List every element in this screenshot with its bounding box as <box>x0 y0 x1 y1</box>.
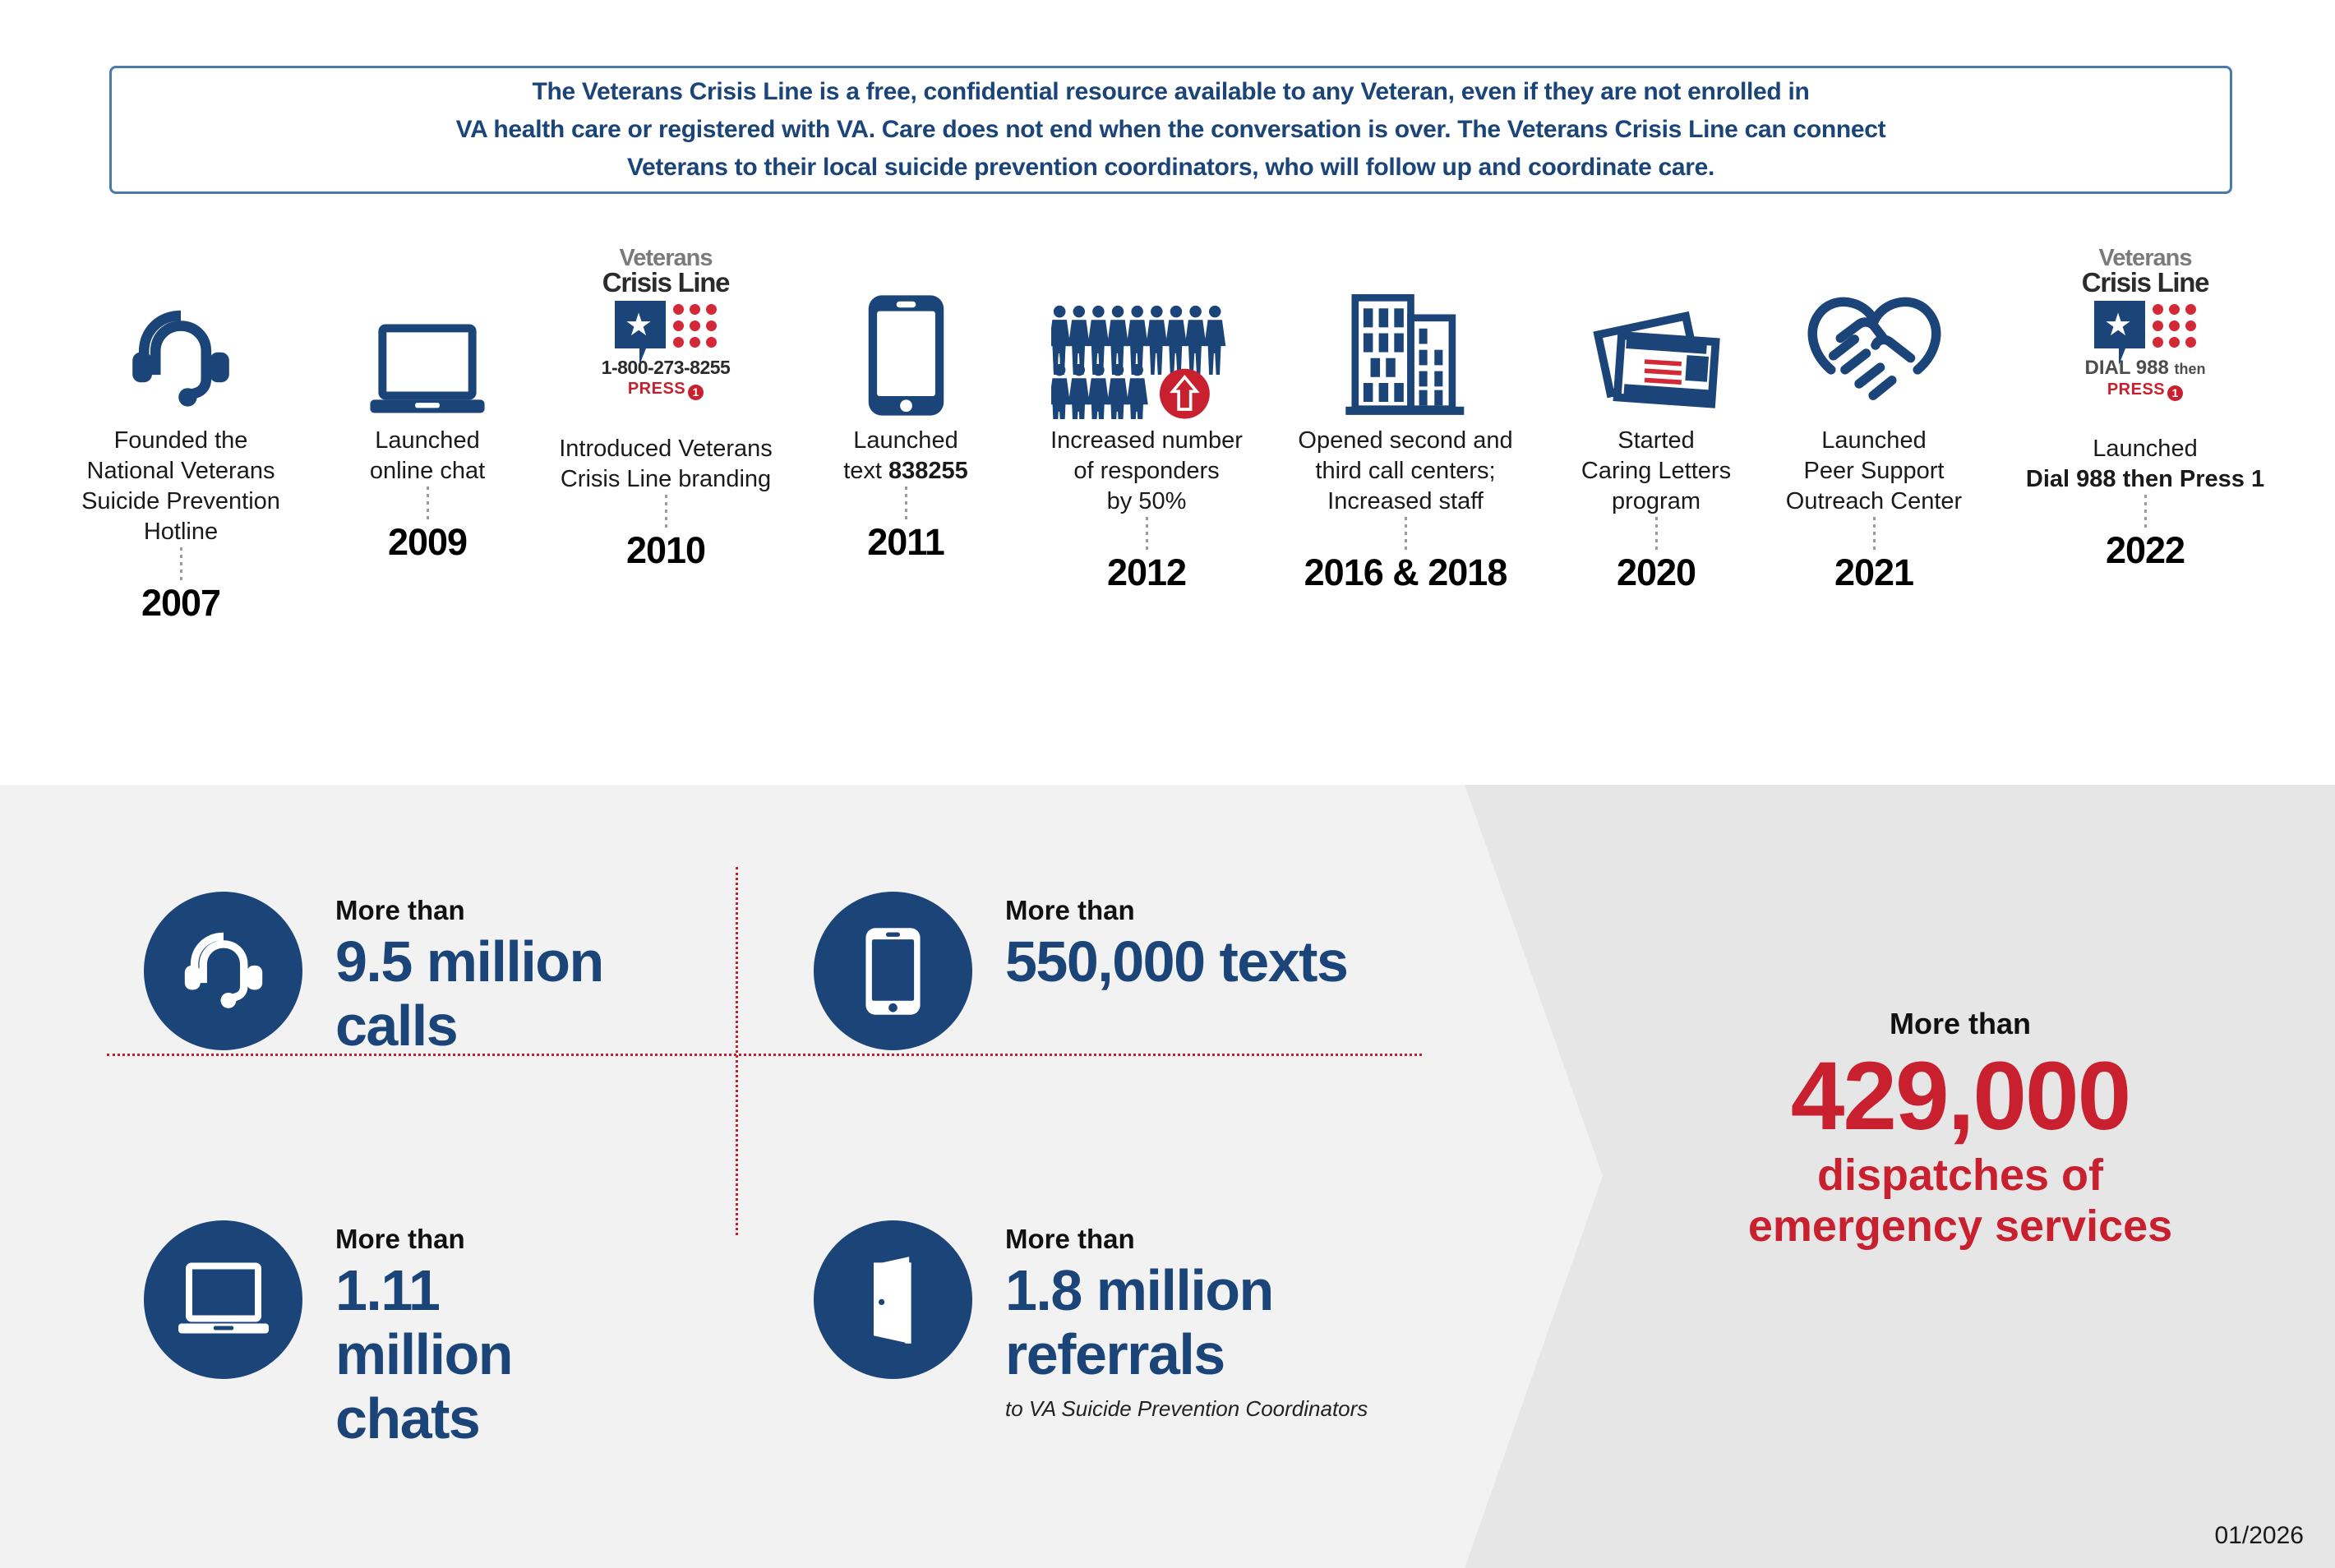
timeline-year-2022: 2022 <box>1989 529 2301 572</box>
keypad-dots-icon <box>2153 301 2196 348</box>
star-icon: ★ <box>2104 310 2132 341</box>
timeline-label-2022: Launched Dial 988 then Press 1 <box>1989 434 2301 495</box>
vcl-dial-label: DIAL 988 then <box>2057 357 2234 380</box>
dispatch-caption: dispatches of emergency services <box>1631 1150 2289 1252</box>
label-line: Peer Support <box>1804 458 1945 484</box>
timeline-item-2011: Launched text 838255 2011 <box>766 247 1045 564</box>
label-line: Outreach Center <box>1786 488 1962 514</box>
timeline-year-2011: 2011 <box>766 521 1045 564</box>
stat-chats: More than 1.11 million chats <box>144 1220 549 1450</box>
speech-bubble-icon: ★ <box>2094 301 2145 348</box>
intro-line-1: The Veterans Crisis Line is a free, conf… <box>532 73 1809 111</box>
connector-dots <box>1405 517 1407 550</box>
label-line: Caring Letters <box>1581 458 1731 484</box>
connector-dots <box>427 487 429 519</box>
intro-line-3: Veterans to their local suicide preventi… <box>627 149 1714 187</box>
label-line: program <box>1612 488 1700 514</box>
connector-dots <box>1146 517 1148 550</box>
connector-dots <box>665 495 667 528</box>
label-line: third call centers; <box>1315 458 1495 484</box>
timeline-label-2021: Launched Peer Support Outreach Center <box>1718 426 2030 517</box>
press-word: PRESS <box>2107 380 2165 399</box>
timeline-item-2009: Launched online chat 2009 <box>288 247 567 564</box>
label-line: by 50% <box>1107 488 1187 514</box>
stat-value: 550,000 texts <box>1005 929 1347 994</box>
vcl-press-label: PRESS1 <box>578 380 754 400</box>
stat-more-than: More than <box>335 1224 549 1255</box>
stat-note: to VA Suicide Prevention Coordinators <box>1005 1396 1368 1422</box>
stat-value: 1.11 million chats <box>335 1258 549 1450</box>
timeline-label-2010: Introduced Veterans Crisis Line branding <box>526 434 805 495</box>
star-icon: ★ <box>625 310 653 341</box>
stat-referrals-text: More than 1.8 million referrals to VA Su… <box>1005 1224 1368 1422</box>
stats-horizontal-divider <box>107 1054 1422 1056</box>
dispatch-callout: More than 429,000 dispatches of emergenc… <box>1631 1007 2289 1252</box>
veterans-crisis-line-988-logo-icon: Veterans Crisis Line ★ DIAL 988 then PRE… <box>1989 247 2301 419</box>
timeline-label-2011: Launched text 838255 <box>766 426 1045 487</box>
stat-value: 9.5 million calls <box>335 929 689 1058</box>
handshake-heart-icon <box>1718 247 2030 419</box>
vcl-press-label: PRESS1 <box>2057 380 2234 401</box>
label-line: Launched <box>2093 436 2197 462</box>
connector-dots <box>180 547 182 580</box>
timeline-item-2007: Founded the National Veterans Suicide Pr… <box>41 247 321 625</box>
label-line-bold: Dial 988 then Press 1 <box>2026 466 2264 492</box>
vcl-phone-number: 1-800-273-8255 <box>578 357 754 379</box>
label-line: Started <box>1617 427 1695 454</box>
text-shortcode: 838255 <box>888 458 968 484</box>
stat-texts: More than 550,000 texts <box>814 892 1347 1050</box>
label-line: Introduced Veterans <box>559 436 773 462</box>
top-section: The Veterans Crisis Line is a free, conf… <box>0 0 2335 785</box>
label-line: Launched <box>375 427 479 454</box>
intro-callout-box: The Veterans Crisis Line is a free, conf… <box>109 66 2232 194</box>
smartphone-icon <box>814 892 972 1050</box>
label-line: Suicide Prevention Hotline <box>81 488 280 545</box>
headset-icon <box>41 247 321 419</box>
vcl-logo-mid-word: Crisis Line <box>2057 269 2234 296</box>
label-line: Increased staff <box>1327 488 1484 514</box>
press-number: 1 <box>688 385 704 400</box>
intro-line-2: VA health care or registered with VA. Ca… <box>456 111 1886 149</box>
connector-dots <box>1873 517 1876 550</box>
stat-more-than: More than <box>1005 1224 1368 1255</box>
stat-calls: More than 9.5 million calls <box>144 892 689 1058</box>
dispatch-caption-line-2: emergency services <box>1748 1201 2172 1251</box>
timeline-year-2009: 2009 <box>288 521 567 564</box>
dispatch-caption-line-1: dispatches of <box>1817 1151 2103 1200</box>
label-line: Increased number <box>1050 427 1243 454</box>
label-line: Founded the <box>114 427 248 454</box>
speech-bubble-icon: ★ <box>615 301 666 348</box>
label-line: Launched <box>853 427 958 454</box>
label-line: Opened second and <box>1298 427 1512 454</box>
headset-icon <box>144 892 302 1050</box>
stat-chats-text: More than 1.11 million chats <box>335 1224 549 1450</box>
timeline-item-2022: Veterans Crisis Line ★ DIAL 988 then PRE… <box>1989 247 2301 572</box>
laptop-icon <box>144 1220 302 1379</box>
press-word: PRESS <box>628 380 685 398</box>
timeline-label-2009: Launched online chat <box>288 426 567 487</box>
connector-dots <box>2144 495 2147 528</box>
label-line: Launched <box>1821 427 1926 454</box>
smartphone-icon <box>766 247 1045 419</box>
label-line-bold: text 838255 <box>843 458 968 484</box>
dispatch-number: 429,000 <box>1631 1046 2289 1146</box>
stats-vertical-divider <box>736 867 738 1235</box>
label-line: of responders <box>1073 458 1219 484</box>
stat-texts-text: More than 550,000 texts <box>1005 895 1347 994</box>
date-stamp: 01/2026 <box>2215 1522 2304 1550</box>
veterans-crisis-line-logo-icon: Veterans Crisis Line ★ 1-800-273-8255 PR… <box>526 247 805 419</box>
stat-value: 1.8 million referrals <box>1005 1258 1359 1386</box>
timeline-year-2007: 2007 <box>41 582 321 625</box>
label-line: online chat <box>370 458 485 484</box>
timeline-label-2007: Founded the National Veterans Suicide Pr… <box>41 426 321 547</box>
keypad-dots-icon <box>673 301 717 348</box>
vcl-logo-mark: ★ <box>578 301 754 348</box>
open-door-icon <box>814 1220 972 1379</box>
vcl-logo-mark: ★ <box>2057 301 2234 348</box>
label-line: National Veterans <box>87 458 275 484</box>
press-number: 1 <box>2167 385 2183 401</box>
timeline-year-2021: 2021 <box>1718 551 2030 594</box>
laptop-icon <box>288 247 567 419</box>
then-word: then <box>2174 361 2205 377</box>
timeline: Founded the National Veterans Suicide Pr… <box>0 247 2335 740</box>
connector-dots <box>1655 517 1658 550</box>
label-line: Crisis Line branding <box>561 466 771 492</box>
vcl-logo-mid-word: Crisis Line <box>578 269 754 296</box>
stat-referrals: More than 1.8 million referrals to VA Su… <box>814 1220 1368 1422</box>
stat-calls-text: More than 9.5 million calls <box>335 895 689 1058</box>
timeline-item-2021: Launched Peer Support Outreach Center 20… <box>1718 247 2030 594</box>
stat-more-than: More than <box>1005 895 1347 926</box>
dispatch-more-than: More than <box>1631 1007 2289 1041</box>
timeline-year-2010: 2010 <box>526 529 805 572</box>
connector-dots <box>905 487 907 519</box>
timeline-item-2010: Veterans Crisis Line ★ 1-800-273-8255 PR… <box>526 247 805 572</box>
stat-more-than: More than <box>335 895 689 926</box>
